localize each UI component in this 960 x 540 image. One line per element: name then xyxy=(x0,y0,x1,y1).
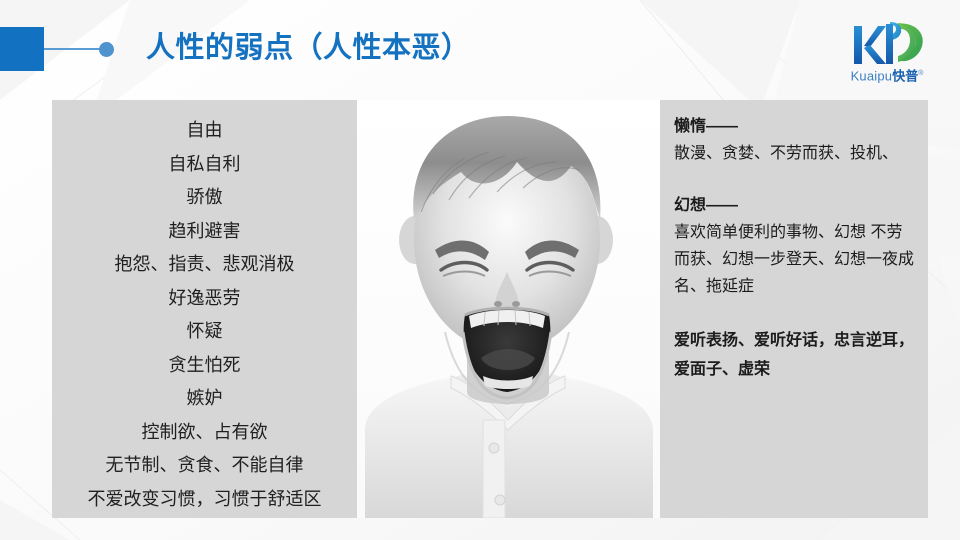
title-accent-dot xyxy=(99,42,114,57)
title-accent-square xyxy=(0,27,44,71)
logo-trademark: ® xyxy=(918,70,923,77)
list-item: 骄傲 xyxy=(58,181,351,215)
kuaipu-logo-mark-icon xyxy=(852,20,926,66)
logo-text-cn: 快普 xyxy=(892,68,918,83)
logo-wordmark: Kuaipu快普® xyxy=(828,66,946,84)
section-body-laziness: 散漫、贪婪、不劳而获、投机、 xyxy=(674,140,916,167)
spacer xyxy=(674,300,916,326)
page-title: 人性的弱点（人性本恶） xyxy=(146,26,471,70)
list-item: 抱怨、指责、悲观消极 xyxy=(58,248,351,282)
list-item: 不爱改变习惯，习惯于舒适区 xyxy=(58,483,351,517)
section-heading-laziness: 懒惰—— xyxy=(674,114,916,140)
right-panel-body: 懒惰—— 散漫、贪婪、不劳而获、投机、 幻想—— 喜欢简单便利的事物、幻想 不劳… xyxy=(660,100,928,384)
photo-illustration xyxy=(357,100,660,518)
human-weakness-list: 自由 自私自利 骄傲 趋利避害 抱怨、指责、悲观消极 好逸恶劳 怀疑 贪生怕死 … xyxy=(52,100,357,516)
screaming-boy-photo xyxy=(357,100,660,518)
logo-text-en: Kuaipu xyxy=(851,68,893,83)
right-traits-panel: 懒惰—— 散漫、贪婪、不劳而获、投机、 幻想—— 喜欢简单便利的事物、幻想 不劳… xyxy=(660,100,928,518)
list-item: 自由 xyxy=(58,114,351,148)
list-item: 怀疑 xyxy=(58,315,351,349)
list-item: 趋利避害 xyxy=(58,215,351,249)
list-item: 贪生怕死 xyxy=(58,349,351,383)
spacer xyxy=(674,167,916,193)
list-item: 嫉妒 xyxy=(58,382,351,416)
list-item: 控制欲、占有欲 xyxy=(58,416,351,450)
list-item: 好逸恶劳 xyxy=(58,282,351,316)
list-item: 自私自利 xyxy=(58,148,351,182)
section-body-fantasy: 喜欢简单便利的事物、幻想 不劳而获、幻想一步登天、幻想一夜成名、拖延症 xyxy=(674,219,916,300)
section-heading-fantasy: 幻想—— xyxy=(674,193,916,219)
emphasis-text: 爱听表扬、爱听好话，忠言逆耳，爱面子、虚荣 xyxy=(674,326,916,384)
list-item: 无节制、贪食、不能自律 xyxy=(58,449,351,483)
slide: 人性的弱点（人性本恶） xyxy=(0,0,960,540)
title-connector-line xyxy=(44,48,101,50)
left-traits-panel: 自由 自私自利 骄傲 趋利避害 抱怨、指责、悲观消极 好逸恶劳 怀疑 贪生怕死 … xyxy=(52,100,357,518)
brand-logo: Kuaipu快普® xyxy=(828,20,946,86)
slide-header: 人性的弱点（人性本恶） xyxy=(0,0,960,100)
